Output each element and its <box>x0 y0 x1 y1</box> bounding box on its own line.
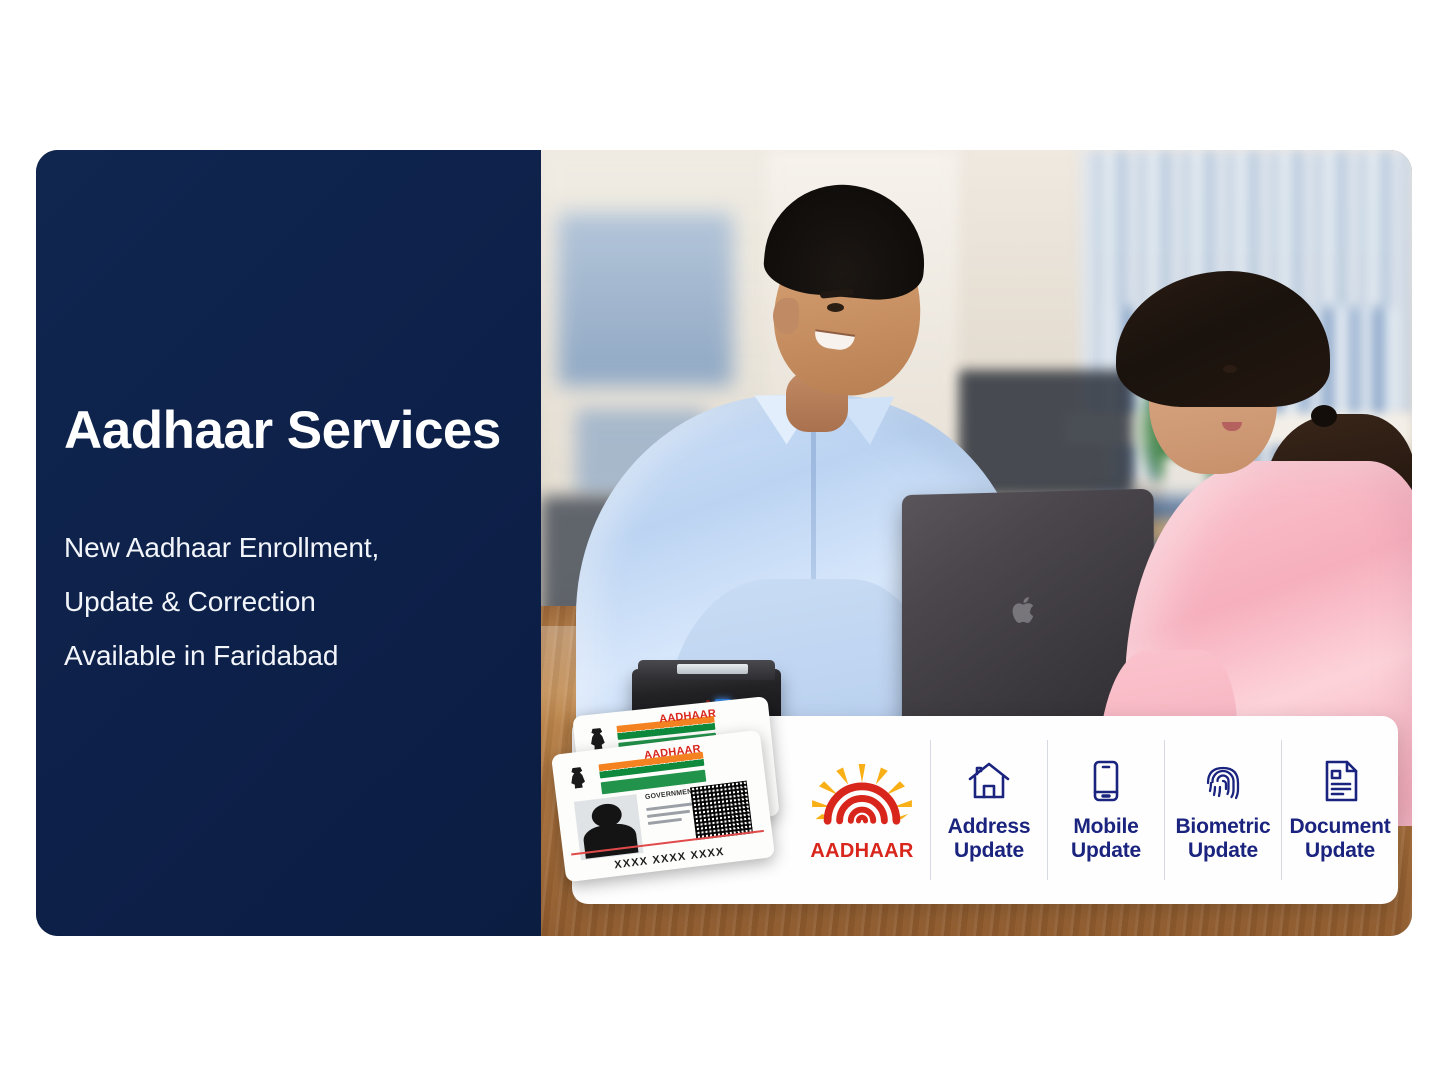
subtitle-line-2: Update & Correction <box>64 575 484 629</box>
subtitle-line-3: Available in Faridabad <box>64 629 484 683</box>
aadhaar-card-front: AADHAAR GOVERNMENT OF INDIA XXXX XXXX XX… <box>551 730 775 883</box>
india-emblem-icon <box>567 767 588 793</box>
qr-code-icon <box>690 780 753 840</box>
home-icon <box>965 757 1013 805</box>
service-label: Biometric Update <box>1175 815 1270 864</box>
apple-logo-icon <box>1011 594 1039 626</box>
fingerprint-icon <box>1199 757 1247 805</box>
aadhaar-logo-icon <box>810 764 914 838</box>
banner-text-panel: Aadhaar Services New Aadhaar Enrollment,… <box>36 150 541 936</box>
service-label: Document Update <box>1289 815 1390 864</box>
aadhaar-logo-text: AADHAAR <box>810 840 913 863</box>
mobile-icon <box>1082 757 1130 805</box>
scanner-strip <box>677 664 748 674</box>
service-label-line2: Update <box>1175 839 1270 863</box>
service-label-line1: Document <box>1289 815 1390 839</box>
customer-hair <box>1116 271 1330 407</box>
service-biometric-update[interactable]: Biometric Update <box>1164 740 1281 879</box>
service-label-line2: Update <box>1071 839 1141 863</box>
page-root: Aadhaar Services New Aadhaar Enrollment,… <box>0 0 1448 1086</box>
subtitle-line-1: New Aadhaar Enrollment, <box>64 521 484 575</box>
service-label-line2: Update <box>948 839 1031 863</box>
customer-hair-tie <box>1311 405 1337 427</box>
service-label: Mobile Update <box>1071 815 1141 864</box>
service-document-update[interactable]: Document Update <box>1281 740 1398 879</box>
aadhaar-logo: AADHAAR <box>794 758 930 863</box>
operator-hair <box>761 178 930 304</box>
banner-subtitle: New Aadhaar Enrollment, Update & Correct… <box>64 521 484 683</box>
aadhaar-cards-stack: AADHAAR AADHAAR GOVERNMENT OF INDIA XXXX… <box>572 716 794 904</box>
page-title: Aadhaar Services <box>64 403 511 459</box>
service-label-line1: Mobile <box>1071 815 1141 839</box>
services-bar: AADHAAR AADHAAR GOVERNMENT OF INDIA XXXX… <box>572 716 1398 904</box>
service-mobile-update[interactable]: Mobile Update <box>1047 740 1164 879</box>
service-label-line1: Address <box>948 815 1031 839</box>
service-address-update[interactable]: Address Update <box>930 740 1047 879</box>
service-label-line2: Update <box>1289 839 1390 863</box>
service-label: Address Update <box>948 815 1031 864</box>
document-icon <box>1316 757 1364 805</box>
services-list: Address Update Mobile Update <box>930 740 1398 879</box>
service-label-line1: Biometric <box>1175 815 1270 839</box>
operator-ear <box>773 298 799 334</box>
